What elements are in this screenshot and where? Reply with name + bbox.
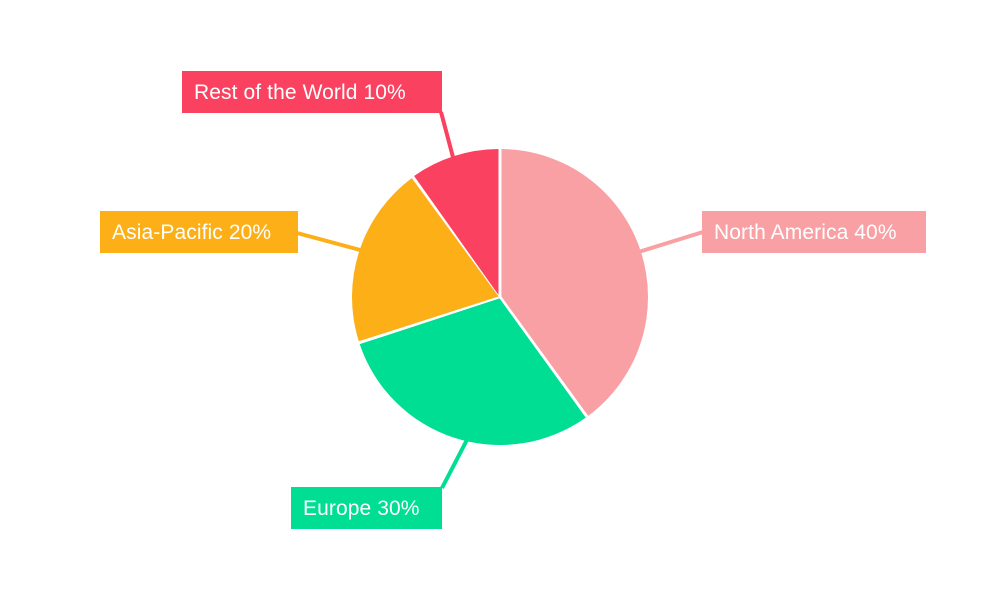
pie-label-rest-of-world-text: Rest of the World 10% — [194, 82, 406, 103]
pie-label-europe[interactable]: Europe 30% — [291, 487, 442, 529]
pie-label-asia-pacific-text: Asia-Pacific 20% — [112, 222, 271, 243]
pie-label-rest-of-world[interactable]: Rest of the World 10% — [182, 71, 442, 113]
leader-line-europe — [442, 434, 470, 488]
pie-label-north-america-text: North America 40% — [714, 222, 897, 243]
pie-slices — [352, 149, 648, 445]
leader-line-north-america — [632, 232, 703, 254]
pie-label-asia-pacific[interactable]: Asia-Pacific 20% — [100, 211, 298, 253]
pie-chart-svg — [0, 0, 1000, 600]
pie-chart-figure: North America 40% Europe 30% Asia-Pacifi… — [0, 0, 1000, 600]
pie-label-europe-text: Europe 30% — [303, 498, 420, 519]
pie-label-north-america[interactable]: North America 40% — [702, 211, 926, 253]
leader-line-asia-pacific — [297, 233, 364, 251]
